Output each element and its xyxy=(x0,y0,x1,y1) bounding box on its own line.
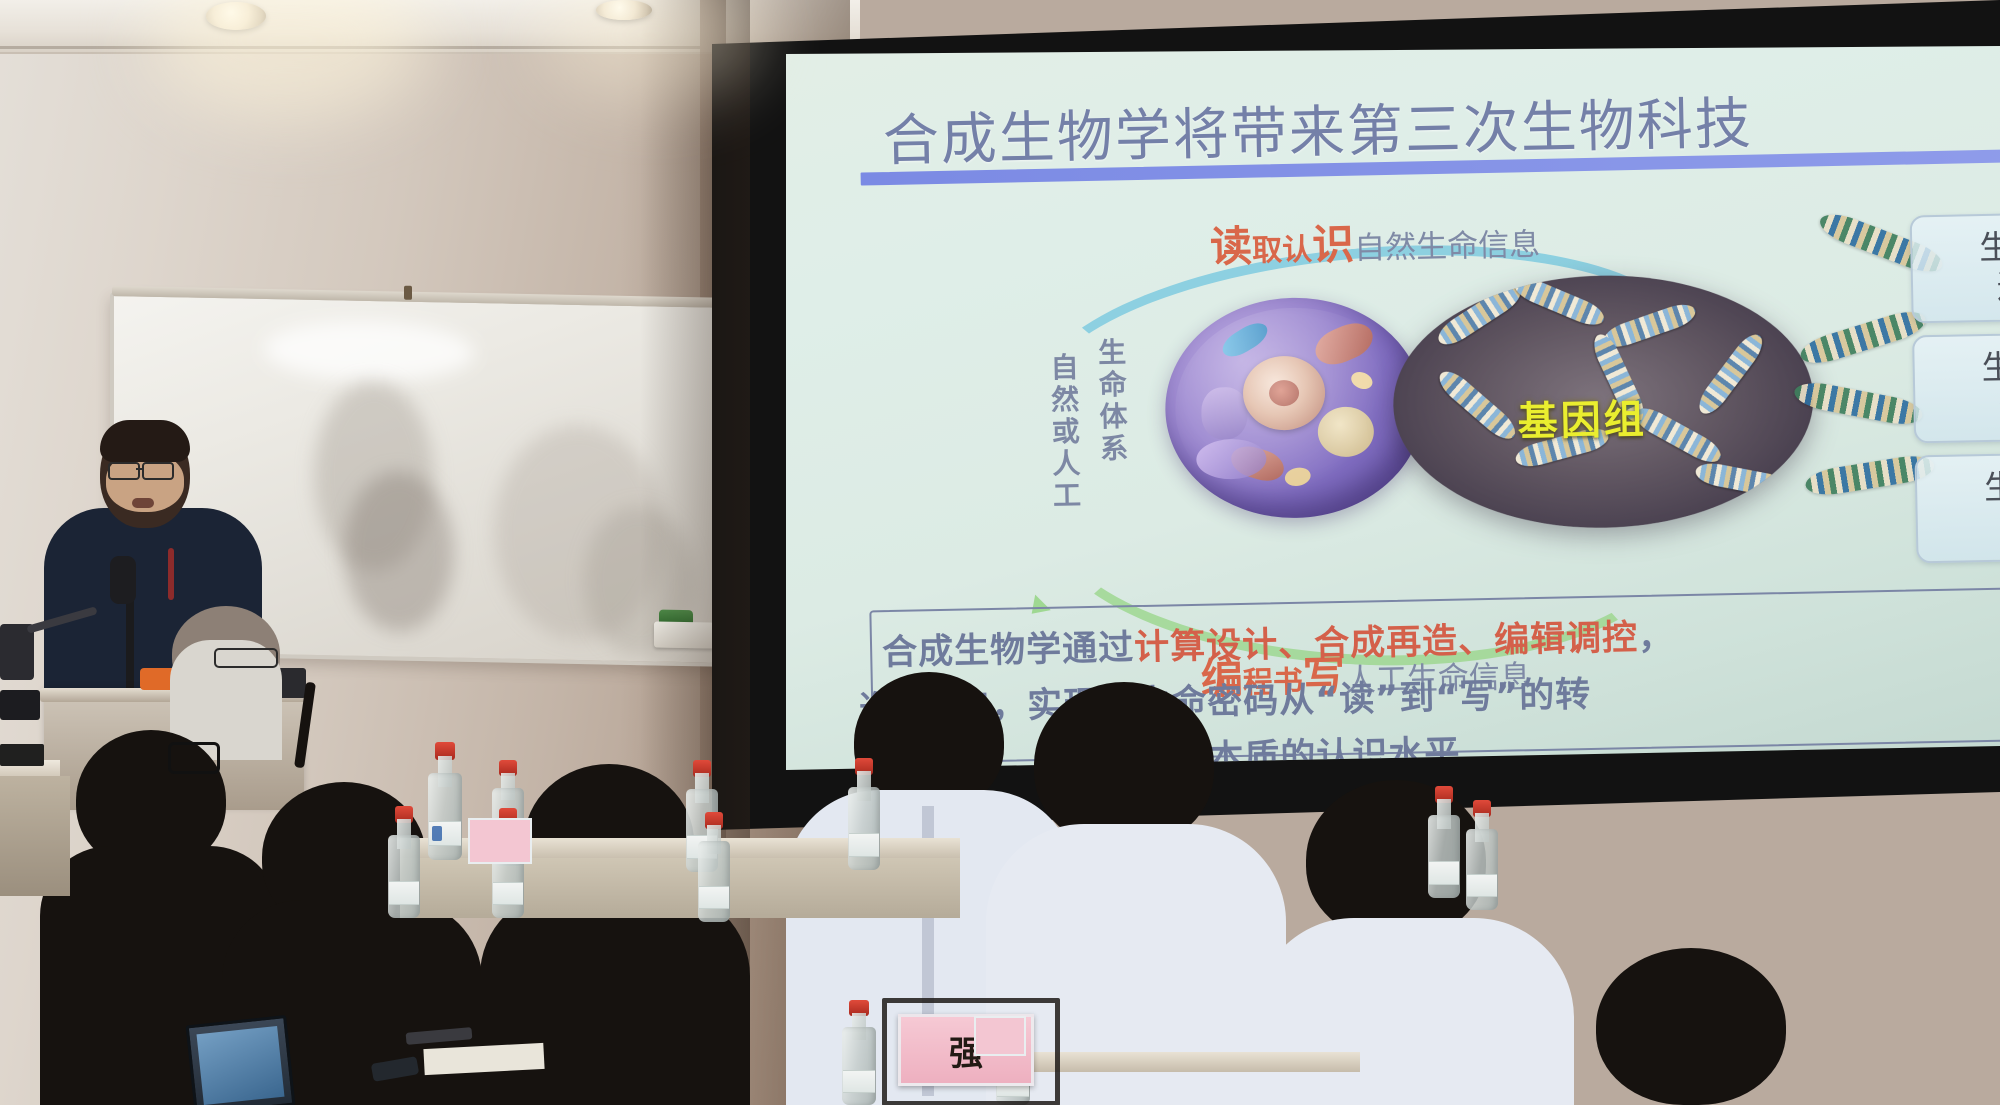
slide-canvas: 合成生物学将带来第三次生物科技 读取认识自然生命信息 编程书写人工生命信息 自然… xyxy=(786,46,2000,770)
audience-shoulders-white-shirt xyxy=(1254,918,1574,1105)
callout-box-3: 生命 运 xyxy=(1914,451,2000,563)
bottle-body xyxy=(1466,829,1498,910)
glasses-bridge-icon xyxy=(136,468,144,470)
ceiling-seam xyxy=(0,46,700,49)
whiteboard-glare xyxy=(264,319,474,383)
vertical-label-natural-or-artificial: 自然或人工 xyxy=(1042,352,1085,513)
read-label-big-2: 识 xyxy=(1312,220,1355,270)
nameplate xyxy=(468,818,532,864)
read-label-tail: 自然生命信息 xyxy=(1354,227,1541,267)
callout-box-2-line2: 物 xyxy=(1925,386,2000,430)
dna-strand-icon xyxy=(1797,306,1929,369)
read-label-small: 取认 xyxy=(1252,232,1313,268)
bottle-body xyxy=(428,773,462,860)
callout-box-3-line2: 运 xyxy=(1928,506,2000,550)
whiteboard-shadow xyxy=(344,471,454,633)
vacuole-icon xyxy=(1317,406,1374,457)
mitochondrion-icon xyxy=(1310,316,1379,371)
endoplasmic-reticulum-icon xyxy=(1196,438,1267,479)
bottle-body xyxy=(698,841,730,922)
organelle-icon xyxy=(1218,318,1272,363)
laptop[interactable] xyxy=(186,1015,296,1105)
nameplate xyxy=(974,1016,1026,1056)
callout-box-1-line1: 生命 xyxy=(1922,226,2000,270)
bottle-body xyxy=(1428,815,1460,898)
photo-scene: 合成生物学将带来第三次生物科技 读取认识自然生命信息 编程书写人工生命信息 自然… xyxy=(0,0,2000,1105)
callout-box-1: 生命 进 xyxy=(1910,211,2000,323)
water-bottle xyxy=(842,1000,876,1105)
bottle-label xyxy=(1467,874,1496,897)
paper-stack xyxy=(0,744,44,766)
bottle-label xyxy=(493,882,522,905)
speaker-mouth xyxy=(132,498,154,508)
water-bottle xyxy=(428,742,462,860)
callout-box-1-line2: 进 xyxy=(1923,266,2000,310)
whiteboard-clip-icon xyxy=(404,286,412,300)
water-bottle xyxy=(698,812,730,922)
golgi-icon xyxy=(1201,387,1248,440)
bottle-label-mark xyxy=(432,826,442,842)
mitochondrion-icon xyxy=(1227,441,1287,485)
bottle-label xyxy=(429,821,460,846)
water-bottle xyxy=(1466,800,1498,910)
callout-box-2: 生命 物 xyxy=(1912,331,2000,443)
callout-box-2-line1: 生命 xyxy=(1924,346,2000,390)
read-label: 读取认识自然生命信息 xyxy=(1209,207,1540,275)
polo-placket xyxy=(168,548,174,600)
bottle-label xyxy=(843,1070,874,1092)
genome-label: 基因组 xyxy=(1517,387,1647,448)
audience-shoulders xyxy=(480,890,750,1105)
table xyxy=(0,776,70,896)
glasses-icon xyxy=(168,742,220,774)
bottle-body xyxy=(848,787,880,870)
glasses-icon xyxy=(108,462,140,480)
audience-head xyxy=(1596,948,1786,1105)
bottle-body xyxy=(388,835,420,918)
vesicle-icon xyxy=(1283,465,1312,488)
speaker-hair xyxy=(100,420,190,462)
bottle-label xyxy=(849,833,878,857)
ceiling-light-icon xyxy=(206,2,266,30)
equipment-box xyxy=(0,690,40,720)
summary-line-1-suffix: ， xyxy=(1638,617,1675,658)
water-bottle xyxy=(848,758,880,870)
vertical-label-life-system: 生命体系 xyxy=(1090,337,1133,466)
bottle-label xyxy=(389,881,418,905)
summary-line-1-highlight: 计算设计、合成再造、编辑调控 xyxy=(1134,618,1639,668)
laptop-screen[interactable] xyxy=(197,1026,285,1105)
projection-screen: 合成生物学将带来第三次生物科技 读取认识自然生命信息 编程书写人工生命信息 自然… xyxy=(786,46,2000,770)
nucleolus-icon xyxy=(1269,380,1300,407)
glasses-icon xyxy=(214,648,278,668)
bottle-label xyxy=(1429,861,1458,885)
water-bottle xyxy=(388,806,420,918)
water-bottle xyxy=(1428,786,1460,898)
bottle-label xyxy=(699,886,728,909)
vesicle-icon xyxy=(1349,369,1375,392)
glasses-icon xyxy=(142,462,174,480)
bottle-body xyxy=(842,1027,876,1105)
callout-box-3-line1: 生命 xyxy=(1927,466,2000,510)
summary-line-1-prefix: 合成生物学通过 xyxy=(882,628,1135,673)
nucleus-icon xyxy=(1242,355,1325,431)
read-label-big-1: 读 xyxy=(1210,222,1253,272)
microphone-capsule-icon xyxy=(110,556,136,604)
